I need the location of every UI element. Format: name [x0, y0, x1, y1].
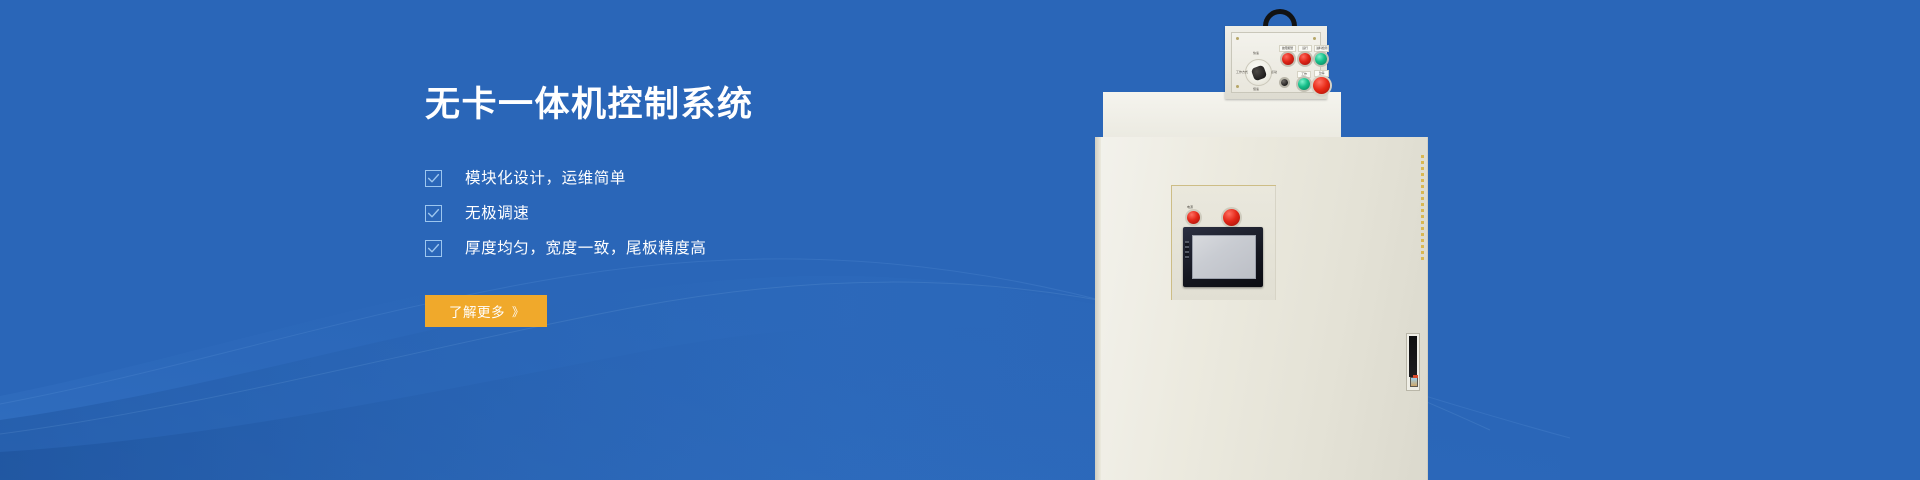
- knob-label-right: 点动: [1271, 70, 1277, 74]
- door-latch-key: [1410, 377, 1418, 387]
- knob-label-left: 工作方式: [1236, 70, 1248, 74]
- hero-banner: 无卡一体机控制系统 模块化设计，运维简单 无极: [0, 0, 1920, 480]
- list-item: 模块化设计，运维简单: [425, 170, 895, 187]
- cabinet-body: 电源: [1095, 137, 1428, 480]
- work-button[interactable]: [1298, 78, 1310, 90]
- cabinet-vent-strip: [1421, 155, 1424, 260]
- button-label-alarm: 故障报警: [1279, 45, 1296, 52]
- hmi-side-keys[interactable]: [1185, 241, 1189, 259]
- toggle-switch[interactable]: [1281, 79, 1288, 86]
- product-image-control-cabinet: 快速 工作方式 点动 慢速 故障报警 运行 进料检测 工作 急停: [1095, 0, 1455, 480]
- checkbox-checked-icon: [425, 240, 442, 257]
- knob-label-bottom: 慢速: [1253, 87, 1259, 91]
- chevron-right-icon: 》: [512, 303, 523, 320]
- screw-icon: [1236, 85, 1239, 88]
- emergency-stop-button[interactable]: [1313, 77, 1330, 94]
- door-latch[interactable]: [1406, 333, 1420, 391]
- knob-label-top: 快速: [1253, 51, 1259, 55]
- checkbox-checked-icon: [425, 205, 442, 222]
- cabinet-button-label-power: 电源: [1187, 205, 1193, 209]
- button-label-work: 工作: [1297, 71, 1311, 78]
- run-button[interactable]: [1299, 53, 1311, 65]
- button-label-feed: 进料检测: [1314, 45, 1329, 52]
- cabinet-left-edge: [1095, 137, 1101, 480]
- feature-list: 模块化设计，运维简单 无极调速 厚度均匀，宽: [425, 170, 895, 257]
- pendant-control-box: 快速 工作方式 点动 慢速 故障报警 运行 进料检测 工作 急停: [1225, 26, 1327, 99]
- list-item-label: 无极调速: [465, 206, 529, 222]
- cabinet-top-section: [1103, 92, 1341, 139]
- stop-button[interactable]: [1223, 209, 1240, 226]
- learn-more-button[interactable]: 了解更多 》: [425, 295, 547, 327]
- button-label-estop: 急停: [1314, 70, 1329, 77]
- list-item-label: 厚度均匀，宽度一致，尾板精度高: [465, 241, 707, 257]
- power-indicator-button[interactable]: [1187, 211, 1200, 224]
- list-item-label: 模块化设计，运维简单: [465, 171, 626, 187]
- latch-indicator-dot: [1413, 375, 1418, 378]
- learn-more-label: 了解更多: [449, 301, 505, 321]
- background-wave-decoration: [0, 0, 1920, 480]
- screw-icon: [1236, 37, 1239, 40]
- hmi-touchscreen[interactable]: [1183, 227, 1263, 287]
- button-label-run: 运行: [1298, 45, 1312, 52]
- banner-content: 无卡一体机控制系统 模块化设计，运维简单 无极: [425, 84, 895, 327]
- mode-selector-knob[interactable]: [1245, 59, 1272, 86]
- hmi-recess-panel: 电源: [1171, 185, 1276, 300]
- alarm-button[interactable]: [1282, 53, 1294, 65]
- pendant-faceplate: 快速 工作方式 点动 慢速 故障报警 运行 进料检测 工作 急停: [1231, 32, 1321, 93]
- door-latch-slot: [1409, 336, 1417, 377]
- hmi-display-area[interactable]: [1192, 235, 1256, 279]
- checkbox-checked-icon: [425, 170, 442, 187]
- screw-icon: [1313, 37, 1316, 40]
- list-item: 厚度均匀，宽度一致，尾板精度高: [425, 240, 895, 257]
- page-title: 无卡一体机控制系统: [425, 84, 895, 126]
- feed-detect-button[interactable]: [1315, 53, 1327, 65]
- list-item: 无极调速: [425, 205, 895, 222]
